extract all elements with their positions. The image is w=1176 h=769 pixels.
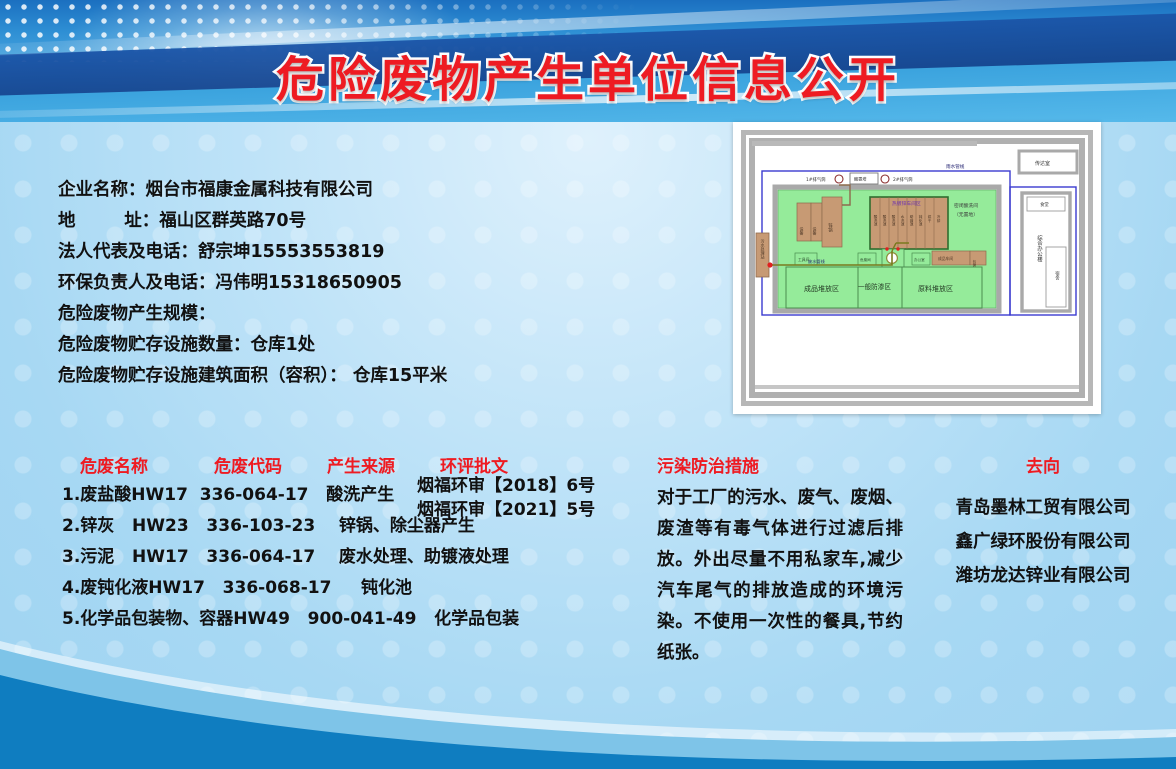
pollution-measures-title: 污染防治措施 bbox=[657, 452, 903, 477]
header-waste-name: 危废名称 bbox=[80, 452, 148, 477]
label-room-finish: 成品车间 bbox=[938, 256, 953, 261]
info-line-env-officer: 环保负责人及电话：冯伟明15318650905 bbox=[58, 268, 678, 299]
label-rain-pipe: 雨水管线 bbox=[946, 163, 965, 170]
info-line-storage-area: 危险废物贮存设施建筑面积（容积）： 仓库15平米 bbox=[58, 361, 678, 392]
table-row: 4.废钝化液HW17 336-068-17 钝化池 bbox=[62, 573, 662, 604]
pollution-measures-block: 污染防治措施 对于工厂的污水、废气、废烟、废渣等有毒气体进行过滤后排放。外出尽量… bbox=[657, 452, 903, 669]
label-pickling-workshop: 密闭酸洗间 bbox=[954, 202, 978, 209]
label-small-room-b: 设备 bbox=[813, 226, 818, 236]
label-bath-6: 钝化池 bbox=[918, 214, 923, 226]
label-general-zone: 一般防渗区 bbox=[858, 282, 891, 291]
label-exhaust-1: 1#排气筒 bbox=[806, 176, 826, 183]
destination-block: 去向 青岛墨林工贸有限公司 鑫广绿环股份有限公司 潍坊龙达锌业有限公司 bbox=[918, 452, 1168, 593]
label-bath-4: 水洗池 bbox=[900, 214, 905, 226]
label-exhaust-2: 2#排气筒 bbox=[893, 176, 913, 183]
info-line-scale: 危险废物产生规模： bbox=[58, 299, 678, 330]
label-room-office: 办公室 bbox=[914, 257, 925, 262]
factory-layout-frame: 雨水管线 1#排气筒 酸雾塔 2#排气筒 设备 设备 锌锅 bbox=[741, 130, 1093, 406]
info-line-storage-count: 危险废物贮存设施数量：仓库1处 bbox=[58, 330, 678, 361]
label-zinc-pot: 锌锅 bbox=[828, 222, 833, 233]
label-bath-8: 冷却 bbox=[936, 214, 941, 223]
label-room-danger: 危废间 bbox=[860, 257, 871, 262]
header-waste-code: 危废代码 bbox=[214, 452, 282, 477]
poster-root: 危险废物产生单位信息公开 企业名称：烟台市福康金属科技有限公司 地 址：福山区群… bbox=[0, 0, 1176, 769]
label-bath-2: 酸洗池 bbox=[882, 214, 887, 226]
table-row: 5.化学品包装物、容器HW49 900-041-49 化学品包装 bbox=[62, 604, 662, 635]
header-banner: 危险废物产生单位信息公开 bbox=[0, 0, 1176, 122]
pollution-measures-body: 对于工厂的污水、废气、废烟、废渣等有毒气体进行过滤后排放。外出尽量不用私家车,减… bbox=[657, 483, 903, 669]
table-row: 1.废盐酸HW17 336-064-17 酸洗产生 bbox=[62, 480, 662, 511]
label-raw-zone: 原料堆放区 bbox=[918, 284, 953, 293]
list-item: 青岛墨林工贸有限公司 bbox=[918, 491, 1168, 525]
label-galvanize-area: 热镀锌车间区 bbox=[892, 200, 921, 207]
waste-table-rows: 1.废盐酸HW17 336-064-17 酸洗产生 2.锌灰 HW23 336-… bbox=[62, 480, 662, 635]
destination-title: 去向 bbox=[918, 452, 1168, 477]
factory-layout-image: 雨水管线 1#排气筒 酸雾塔 2#排气筒 设备 设备 锌锅 bbox=[733, 122, 1101, 414]
label-gatehouse: 传达室 bbox=[1035, 160, 1050, 167]
page-title: 危险废物产生单位信息公开 bbox=[0, 40, 1176, 110]
label-pickling-workshop-2: （无置地） bbox=[954, 211, 978, 218]
label-room-pack: 包装 bbox=[972, 259, 976, 267]
header-waste-source: 产生来源 bbox=[327, 452, 395, 477]
label-canteen: 食堂 bbox=[1040, 201, 1049, 208]
list-item: 潍坊龙达锌业有限公司 bbox=[918, 559, 1168, 593]
table-row: 2.锌灰 HW23 336-103-23 锌锅、除尘器产生 bbox=[62, 511, 662, 542]
info-line-company-name: 企业名称：烟台市福康金属科技有限公司 bbox=[58, 175, 678, 206]
label-bath-5: 助镀池 bbox=[909, 214, 914, 226]
waste-table: 危废名称 危废代码 产生来源 环评批文 烟福环审【2018】6号 烟福环审【20… bbox=[62, 452, 662, 478]
label-bath-1: 酸洗池 bbox=[873, 214, 878, 226]
label-office: 综合办公楼 bbox=[1036, 234, 1043, 264]
company-info-block: 企业名称：烟台市福康金属科技有限公司 地 址：福山区群英路70号 法人代表及电话… bbox=[58, 175, 678, 392]
label-dorm: 宿舍 bbox=[1055, 270, 1060, 281]
factory-layout-svg: 雨水管线 1#排气筒 酸雾塔 2#排气筒 设备 设备 锌锅 bbox=[746, 135, 1088, 401]
label-acid-tank: 酸雾塔 bbox=[854, 176, 867, 183]
label-bath-3: 酸洗池 bbox=[891, 214, 896, 226]
label-small-room-a: 设备 bbox=[800, 226, 805, 236]
label-finished-zone: 成品堆放区 bbox=[804, 284, 839, 293]
label-sewage-station: 污水处理站 bbox=[761, 238, 766, 260]
info-line-address: 地 址：福山区群英路70号 bbox=[58, 206, 678, 237]
label-bath-7: 烘干 bbox=[927, 214, 932, 223]
label-waste-pipe: 废水管线 bbox=[808, 258, 826, 265]
info-line-legal-rep: 法人代表及电话：舒宗坤15553553819 bbox=[58, 237, 678, 268]
table-row: 3.污泥 HW17 336-064-17 废水处理、助镀液处理 bbox=[62, 542, 662, 573]
list-item: 鑫广绿环股份有限公司 bbox=[918, 525, 1168, 559]
